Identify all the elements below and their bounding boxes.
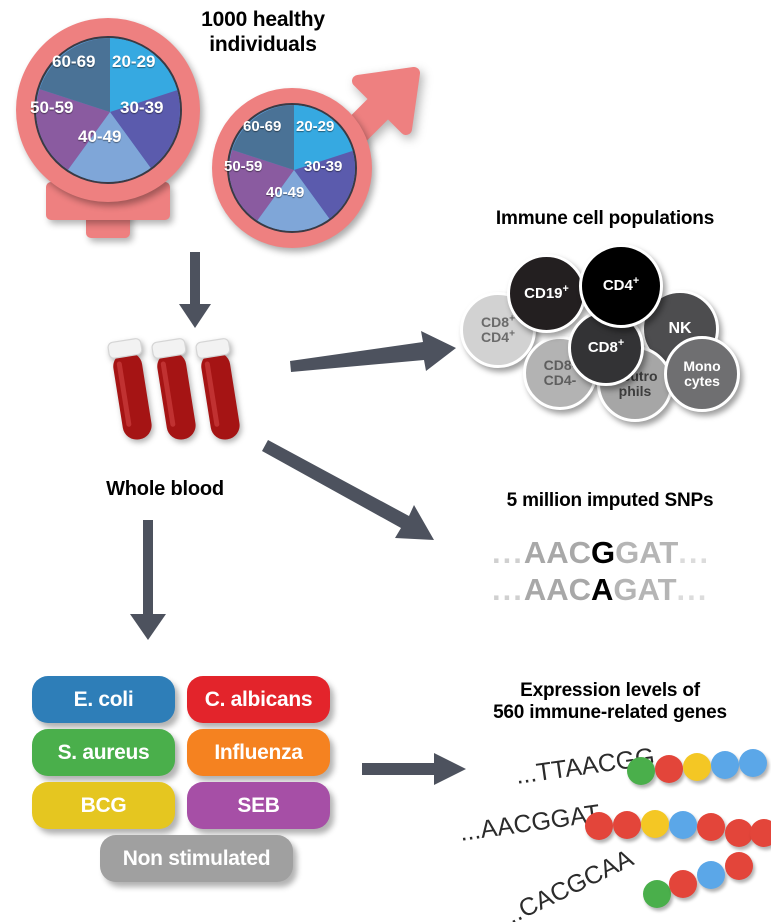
cell-monocytes: Mono cytes	[664, 336, 740, 412]
expression-strand-2-bead-1	[585, 812, 613, 840]
expression-strand-2-bead-7	[750, 819, 771, 847]
female-pie-label-50-59: 50-59	[30, 98, 73, 118]
expression-strand-2-bead-5	[697, 813, 725, 841]
cell-cd8-label: CD8+	[588, 340, 624, 356]
cell-nk-label: NK	[668, 321, 691, 338]
cell-cd19: CD19+	[507, 254, 586, 333]
arrow-blood-to-immune	[290, 330, 465, 375]
expression-heading-line1: Expression levels of	[455, 680, 765, 702]
cell-monocytes-line1: Mono	[683, 359, 720, 374]
snp-allele-row-2: ...AACAGAT...	[492, 572, 708, 608]
stimulus-bcg[interactable]: BCG	[32, 782, 175, 829]
male-pie-label-30-39: 30-39	[304, 158, 342, 175]
snp1-suffix: ...	[678, 535, 710, 571]
cell-monocytes-line2: cytes	[684, 374, 720, 389]
arrow-blood-to-stimuli-shape	[130, 520, 166, 640]
expression-strand-3-bead-2	[669, 870, 697, 898]
expression-strands: ...TTAACGG ...AACGGAT ...CACGCAA	[440, 740, 771, 920]
expression-strand-3-text: ...CACGCAA	[496, 844, 639, 922]
snps-heading: 5 million imputed SNPs	[460, 490, 760, 512]
cell-cd4-label: CD4+	[603, 278, 639, 294]
snp2-variant: A	[591, 572, 613, 608]
expression-strand-2-text: ...AACGGAT	[458, 799, 602, 847]
arrow-cohort-to-blood	[176, 252, 216, 332]
immune-heading: Immune cell populations	[455, 208, 755, 230]
snp1-left: AAC	[524, 535, 591, 571]
female-pie-label-60-69: 60-69	[52, 52, 95, 72]
arrow-blood-to-immune-shape	[290, 331, 456, 372]
arrow-blood-to-snps-shape	[262, 440, 434, 540]
expression-strand-3: ...CACGCAA	[440, 848, 771, 922]
whole-blood-tubes	[105, 330, 245, 455]
stimulus-s-aureus-label: S. aureus	[58, 741, 150, 765]
snp2-left: AAC	[524, 572, 591, 608]
expression-strand-2-bead-3	[641, 810, 669, 838]
snp1-prefix: ...	[492, 535, 524, 571]
stimulus-influenza-label: Influenza	[214, 741, 302, 765]
expression-strand-3-bead-4	[725, 852, 753, 880]
male-gender-symbol: 20-29 30-39 40-49 50-59 60-69	[200, 60, 430, 260]
stimulus-s-aureus[interactable]: S. aureus	[32, 729, 175, 776]
arrow-blood-to-snps	[268, 440, 458, 550]
male-pie-label-20-29: 20-29	[296, 118, 334, 135]
stimulus-non-stimulated-label: Non stimulated	[123, 847, 270, 871]
expression-strand-2-bead-2	[613, 811, 641, 839]
snp1-variant: G	[591, 535, 615, 571]
arrow-cohort-to-blood-shape	[179, 252, 211, 328]
stimulus-influenza[interactable]: Influenza	[187, 729, 330, 776]
cell-cd8p-cd4p-line2: CD4+	[481, 330, 515, 345]
stimulus-seb[interactable]: SEB	[187, 782, 330, 829]
male-pie-label-60-69: 60-69	[243, 118, 281, 135]
expression-strand-1-bead-4	[711, 751, 739, 779]
stimulus-c-albicans-label: C. albicans	[205, 688, 313, 712]
stimulus-c-albicans[interactable]: C. albicans	[187, 676, 330, 723]
expression-strand-1-bead-2	[655, 755, 683, 783]
blood-tube-1	[107, 338, 155, 442]
stimulus-e-coli[interactable]: E. coli	[32, 676, 175, 723]
blood-tubes-svg	[105, 330, 245, 455]
expression-heading-line2: 560 immune-related genes	[455, 702, 765, 724]
cell-neutrophils-line2: phils	[619, 384, 652, 399]
expression-strand-1-bead-1	[627, 757, 655, 785]
expression-strand-3-bead-3	[697, 861, 725, 889]
expression-strand-2-bead-6	[725, 819, 753, 847]
stimulus-non-stimulated[interactable]: Non stimulated	[100, 835, 293, 882]
expression-strand-1-bead-3	[683, 753, 711, 781]
expression-strand-2-bead-4	[669, 811, 697, 839]
whole-blood-label: Whole blood	[80, 478, 250, 502]
male-pie-label-50-59: 50-59	[224, 158, 262, 175]
snp2-right: GAT	[613, 572, 676, 608]
cell-cd8n-cd4n-line2: CD4-	[544, 373, 577, 388]
snp1-right: GAT	[615, 535, 678, 571]
female-pie-label-20-29: 20-29	[112, 52, 155, 72]
female-gender-symbol: 20-29 30-39 40-49 50-59 60-69	[8, 10, 208, 240]
expression-strand-3-bead-1	[643, 880, 671, 908]
blood-tube-3	[195, 338, 243, 442]
male-pie-label-40-49: 40-49	[266, 184, 304, 201]
blood-tube-2	[151, 338, 199, 442]
figure-canvas: 1000 healthy individuals 20-29 30-39	[0, 0, 771, 922]
snp2-prefix: ...	[492, 572, 524, 608]
cell-cd19-label: CD19+	[524, 286, 569, 302]
expression-strand-1-bead-5	[739, 749, 767, 777]
stimulus-e-coli-label: E. coli	[74, 688, 134, 712]
immune-cell-cluster: CD8+ CD4+ CD19+ CD8- CD4- CD4+ CD8+	[455, 238, 760, 418]
female-pie-label-40-49: 40-49	[78, 127, 121, 147]
female-pie-label-30-39: 30-39	[120, 98, 163, 118]
expression-heading: Expression levels of 560 immune-related …	[455, 680, 765, 725]
cell-cd4: CD4+	[579, 244, 663, 328]
stimulus-seb-label: SEB	[237, 794, 279, 818]
snp-allele-row-1: ...AACGGAT...	[492, 535, 710, 571]
arrow-blood-to-stimuli	[128, 520, 172, 644]
snp2-suffix: ...	[677, 572, 709, 608]
stimulus-bcg-label: BCG	[81, 794, 127, 818]
